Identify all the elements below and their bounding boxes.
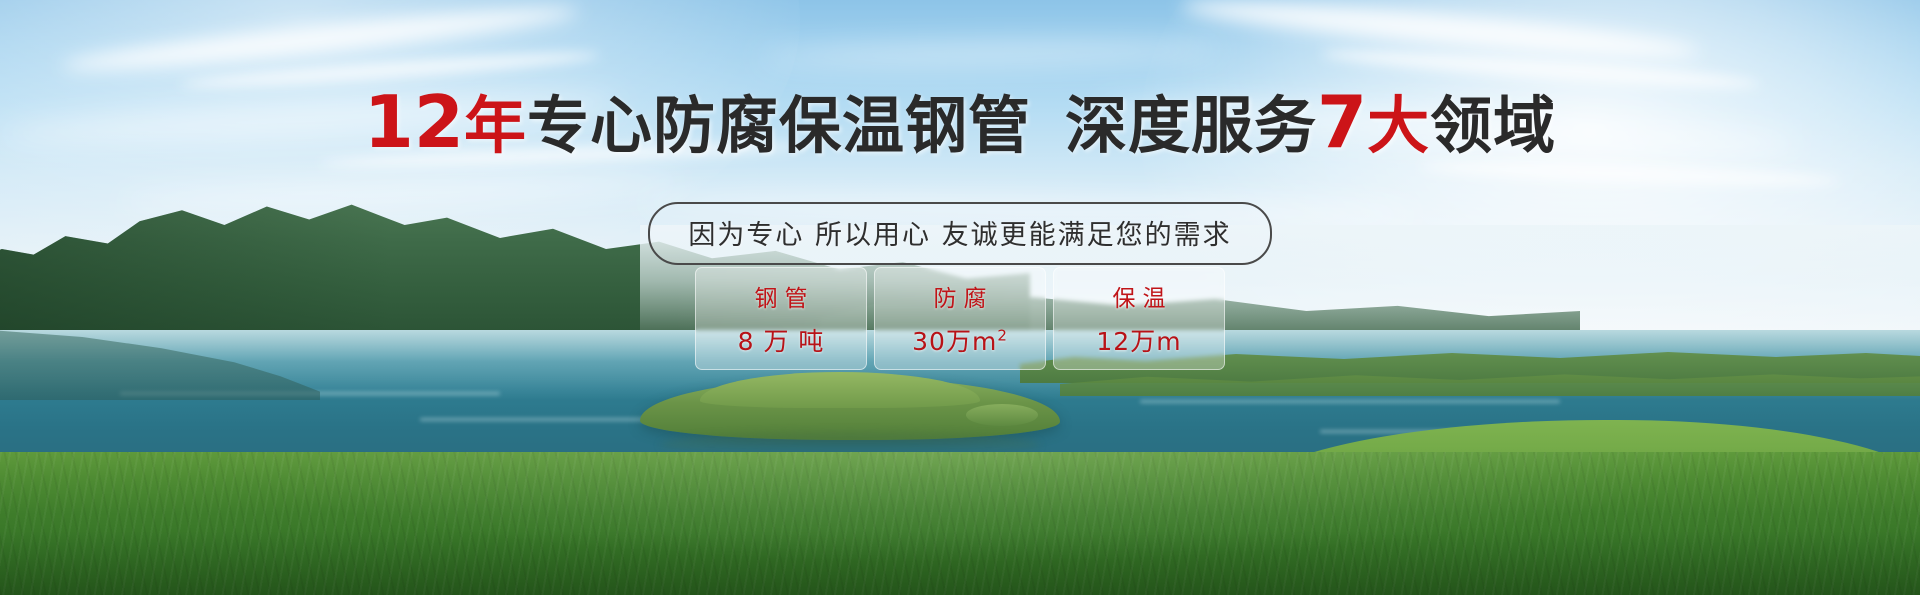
stat-value-text: 30万m xyxy=(912,327,997,356)
headline-service-text: 深度服务 xyxy=(1065,89,1317,162)
stat-card-label: 钢管 xyxy=(748,279,815,313)
stat-card-steel-pipe[interactable]: 钢管 8 万 吨 xyxy=(695,267,867,370)
headline-years-unit: 年 xyxy=(464,89,527,162)
stat-value-text: 12万m xyxy=(1096,327,1181,356)
banner-headline: 12年专心防腐保温钢管深度服务7大领域 xyxy=(0,86,1920,158)
headline-years-number: 12 xyxy=(364,80,464,164)
headline-main-text: 专心防腐保温钢管 xyxy=(527,89,1031,162)
stat-card-value: 8 万 吨 xyxy=(738,322,825,358)
stat-value-superscript: 2 xyxy=(997,327,1008,345)
headline-fields-unit: 大 xyxy=(1367,89,1430,162)
stat-value-text: 8 万 吨 xyxy=(738,327,825,356)
banner-subtitle-wrapper: 因为专心 所以用心 友诚更能满足您的需求 xyxy=(0,202,1920,265)
hero-banner: 12年专心防腐保温钢管深度服务7大领域 因为专心 所以用心 友诚更能满足您的需求… xyxy=(0,0,1920,595)
stat-card-label: 保温 xyxy=(1106,279,1173,313)
stat-card-label: 防腐 xyxy=(927,279,994,313)
banner-subtitle-pill: 因为专心 所以用心 友诚更能满足您的需求 xyxy=(648,202,1271,265)
banner-content: 12年专心防腐保温钢管深度服务7大领域 因为专心 所以用心 友诚更能满足您的需求… xyxy=(0,0,1920,595)
stat-card-insulation[interactable]: 保温 12万m xyxy=(1053,267,1225,370)
headline-fields-text: 领域 xyxy=(1430,89,1556,162)
stat-card-anticorrosion[interactable]: 防腐 30万m2 xyxy=(874,267,1046,370)
stat-card-group: 钢管 8 万 吨 防腐 30万m2 保温 12万m xyxy=(0,267,1920,370)
headline-fields-number: 7 xyxy=(1317,80,1367,164)
stat-card-value: 30万m2 xyxy=(912,322,1008,358)
stat-card-value: 12万m xyxy=(1096,322,1181,358)
